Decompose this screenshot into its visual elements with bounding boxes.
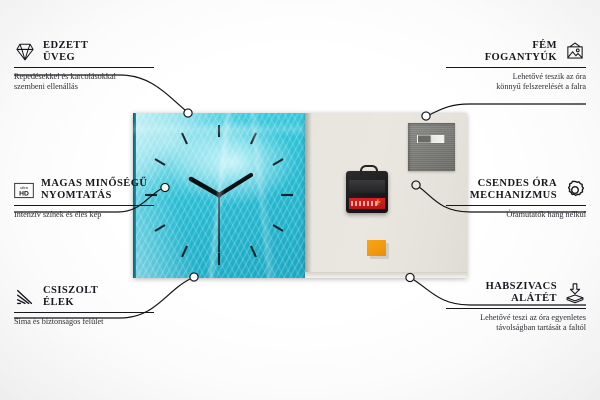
clock-dial	[133, 113, 305, 278]
callout-title: MAGAS MINŐSÉGŰ NYOMTATÁS	[41, 178, 147, 202]
panel-bottom-edge	[305, 272, 467, 278]
callout-title: EDZETT ÜVEG	[43, 40, 88, 64]
callout-header: EDZETT ÜVEG	[14, 40, 154, 64]
battery-plus-marker: +	[374, 199, 381, 207]
callout-header: FÉM FOGANTYÚK	[446, 40, 586, 64]
panel-inner-shadow	[305, 113, 312, 278]
callout-title: CSENDES ÓRA MECHANIZMUS	[470, 178, 557, 202]
callout-silent-mechanism[interactable]: CSENDES ÓRA MECHANIZMUS Óramutatók hang …	[446, 178, 586, 220]
gear-icon	[564, 179, 586, 201]
callout-header: CSISZOLT ÉLEK	[14, 285, 154, 309]
battery: +	[349, 198, 385, 209]
callout-rule	[14, 205, 154, 206]
hanger-slot	[417, 135, 445, 143]
svg-text:HD: HD	[19, 190, 29, 197]
callout-description: Lehetővé teszik az óra könnyű felszerelé…	[446, 72, 586, 92]
clock-face-panel	[133, 113, 305, 278]
svg-text:ultra: ultra	[20, 186, 28, 190]
diamond-icon	[14, 41, 36, 63]
foam-pad	[367, 240, 386, 256]
polished-edges-icon	[14, 286, 36, 308]
callout-title: CSISZOLT ÉLEK	[43, 285, 98, 309]
callout-foam-spacer[interactable]: HABSZIVACS ALÁTÉT Lehetővé teszi az óra …	[446, 281, 586, 333]
callout-description: Sima és biztonságos felület	[14, 317, 154, 327]
callout-description: Repedésekkel és karcolásokkal szembeni e…	[14, 72, 154, 92]
callout-title: FÉM FOGANTYÚK	[485, 40, 557, 64]
ultra-hd-icon: ultra HD	[14, 182, 34, 199]
callout-polished-edges[interactable]: CSISZOLT ÉLEK Sima és biztonságos felüle…	[14, 285, 154, 327]
infographic-canvas: +	[0, 0, 600, 400]
callout-title: HABSZIVACS ALÁTÉT	[486, 281, 557, 305]
callout-rule	[446, 308, 586, 309]
callout-high-quality-print[interactable]: ultra HD MAGAS MINŐSÉGŰ NYOMTATÁS Intenz…	[14, 178, 154, 220]
picture-hanger-icon	[564, 41, 586, 63]
callout-rule	[446, 205, 586, 206]
callout-header: CSENDES ÓRA MECHANIZMUS	[446, 178, 586, 202]
callout-header: HABSZIVACS ALÁTÉT	[446, 281, 586, 305]
product-image: +	[133, 113, 467, 278]
callout-metal-handles[interactable]: FÉM FOGANTYÚK Lehetővé teszik az óra kön…	[446, 40, 586, 92]
callout-tempered-glass[interactable]: EDZETT ÜVEG Repedésekkel és karcolásokka…	[14, 40, 154, 92]
mechanism-band	[349, 180, 385, 193]
clock-mechanism: +	[346, 171, 388, 213]
metal-hanger-plate	[408, 123, 455, 171]
callout-rule	[14, 312, 154, 313]
mechanism-hook	[360, 165, 378, 176]
callout-header: ultra HD MAGAS MINŐSÉGŰ NYOMTATÁS	[14, 178, 154, 202]
callout-description: Intenzív színek és éles kép	[14, 210, 154, 220]
callout-rule	[14, 67, 154, 68]
callout-rule	[446, 67, 586, 68]
foam-pad-icon	[564, 282, 586, 304]
callout-description: Lehetővé teszi az óra egyenletes távolsá…	[446, 313, 586, 333]
callout-description: Óramutatók hang nélkül	[446, 210, 586, 220]
clock-back-panel: +	[305, 113, 467, 278]
